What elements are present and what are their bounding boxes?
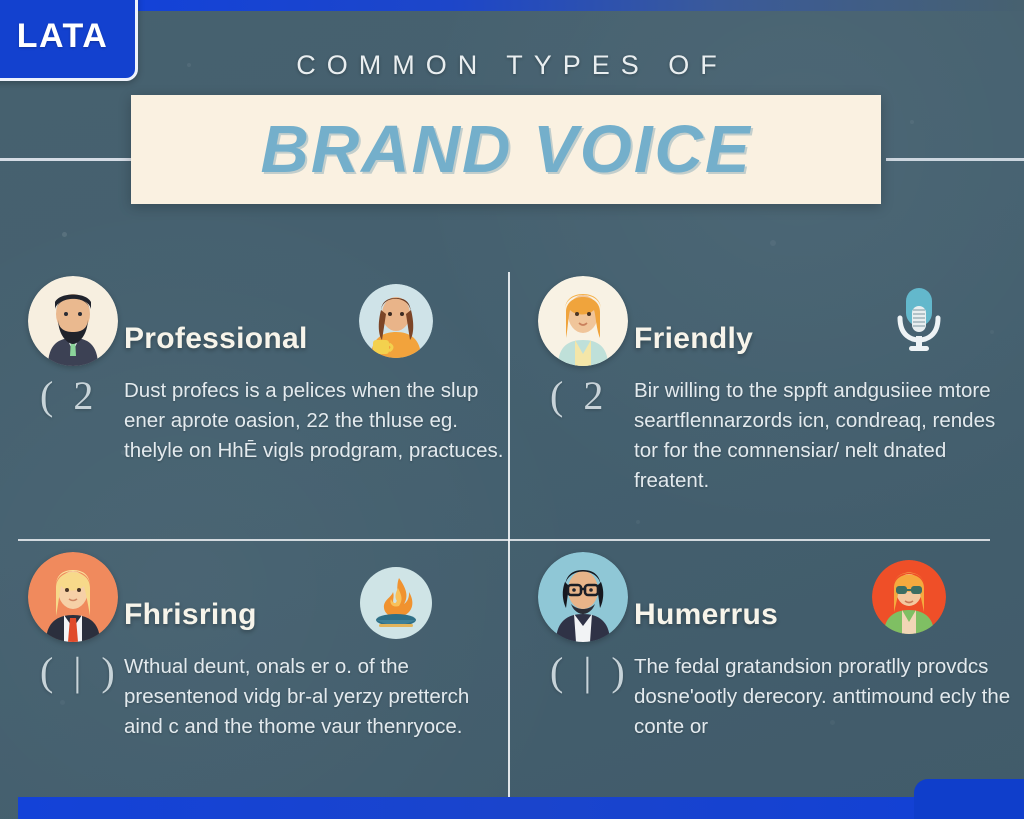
woman-with-coffee-icon: [359, 284, 433, 358]
infographic-poster: LATA COMMON TYPES OF BRAND VOICE: [0, 0, 1024, 819]
speckle: [910, 120, 914, 124]
card-body: Wthual deunt, onals er o. of the present…: [124, 652, 504, 742]
horizontal-divider: [18, 539, 990, 541]
divider-rule-left: [0, 158, 132, 161]
woman-with-sunglasses-icon: [872, 560, 946, 634]
card-marker: ( 2: [550, 372, 608, 419]
bearded-man-in-suit-avatar: [28, 276, 118, 366]
page-title: BRAND VOICE: [131, 95, 881, 204]
microphone-icon: [882, 280, 956, 354]
card-body: The fedal gratandsion proratlly provdcs …: [634, 652, 1012, 742]
header-kicker: COMMON TYPES OF: [0, 50, 1024, 81]
card-inspiring: ( | ) Fhrisring Wthual deunt, onals er o…: [14, 548, 514, 810]
blonde-woman-in-suit-avatar: [28, 552, 118, 642]
card-professional: ( 2 Professional Dust profecs is a pelic…: [14, 272, 514, 534]
card-heading: Fhrisring: [124, 598, 257, 632]
card-heading: Friendly: [634, 322, 753, 356]
man-with-glasses-avatar: [538, 552, 628, 642]
card-marker: ( 2: [40, 372, 98, 419]
card-friendly: ( 2 Friendly Bir willing to the sppft an…: [524, 272, 1024, 534]
title-band: BRAND VOICE: [131, 95, 881, 204]
speckle: [62, 232, 67, 237]
speckle: [770, 240, 776, 246]
card-heading: Professional: [124, 322, 308, 356]
card-marker: ( | ): [550, 648, 630, 695]
divider-rule-right: [886, 158, 1024, 161]
card-humorous: ( | ) Humerrus The fedal gratandsion pro…: [524, 548, 1024, 810]
flame-lamp-icon: [359, 566, 433, 640]
card-marker: ( | ): [40, 648, 120, 695]
bottom-corner-badge: [914, 779, 1024, 819]
card-heading: Humerrus: [634, 598, 778, 632]
top-accent-bar: [128, 0, 1024, 11]
card-body: Dust profecs is a pelices when the slup …: [124, 376, 504, 466]
bottom-accent-bar: [18, 797, 1024, 819]
blonde-woman-avatar: [538, 276, 628, 366]
card-body: Bir willing to the sppft andgusiiee mtor…: [634, 376, 1012, 496]
